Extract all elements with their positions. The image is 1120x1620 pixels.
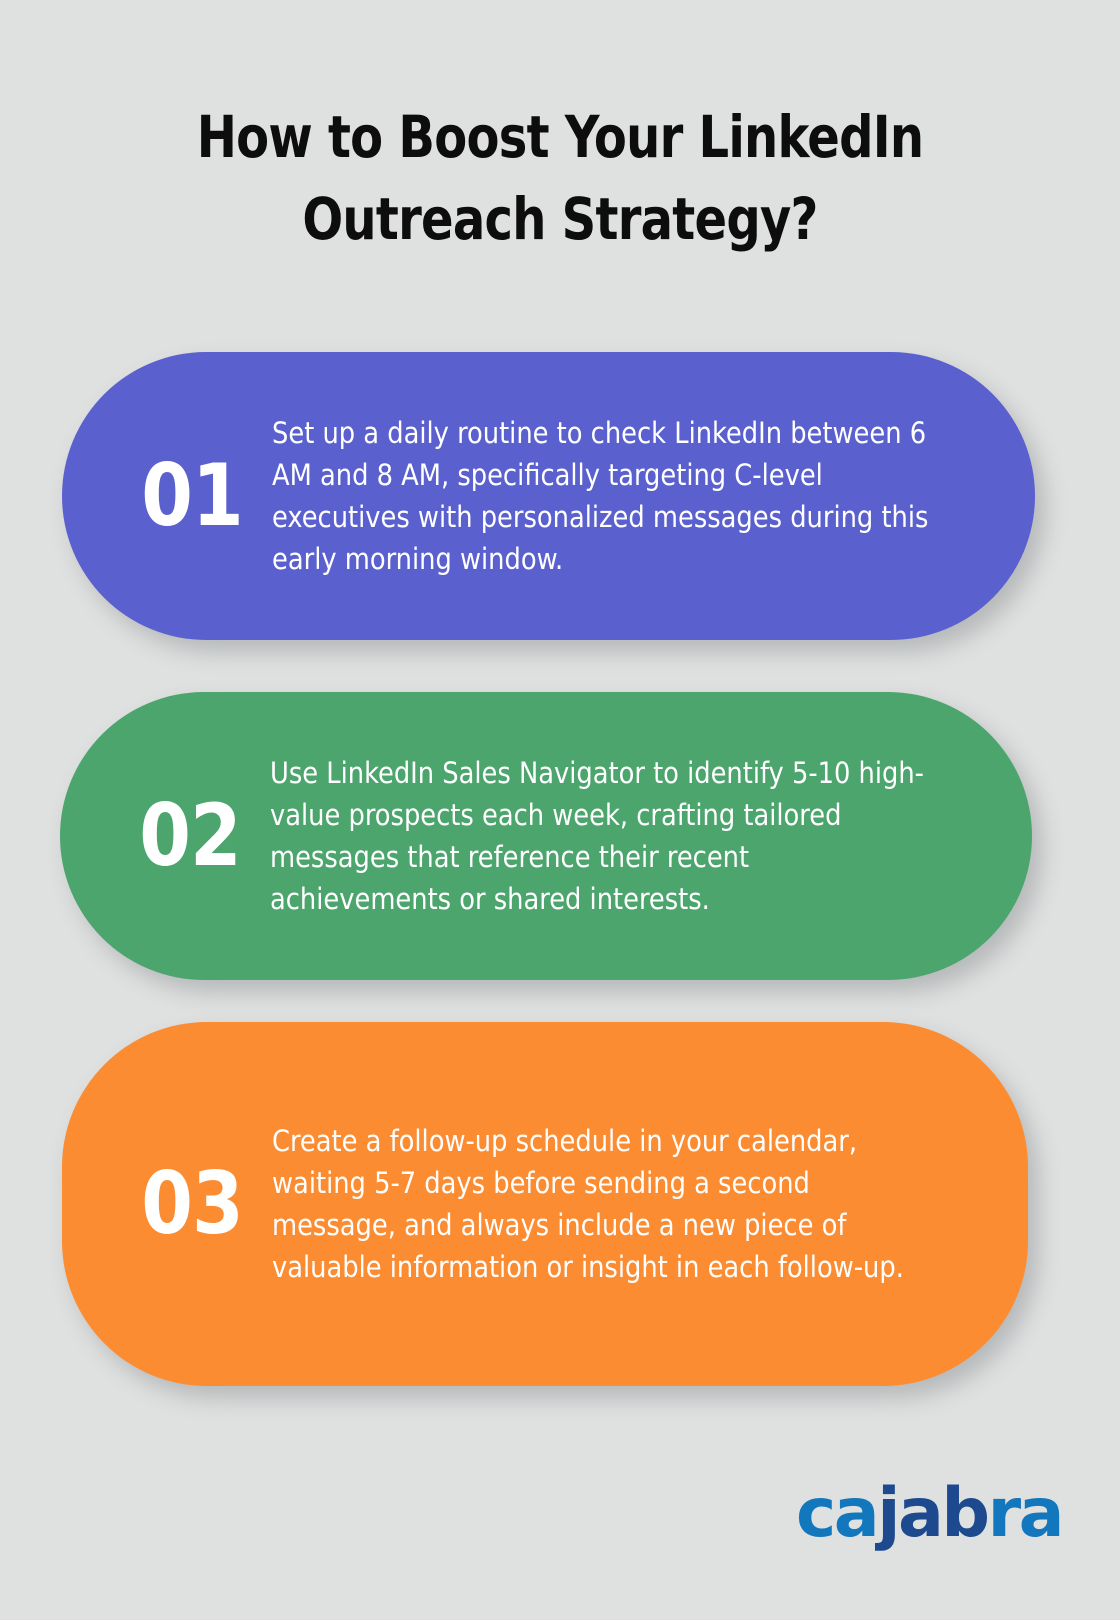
- step-text-02: Use LinkedIn Sales Navigator to identify…: [270, 752, 1009, 920]
- cajabra-logo: cajabra: [796, 1480, 1062, 1548]
- step-card-03: 03 Create a follow-up schedule in your c…: [62, 1022, 1028, 1386]
- steps-list: 01 Set up a daily routine to check Linke…: [0, 0, 1120, 1620]
- step-number-03: 03: [121, 1161, 263, 1247]
- logo-part-3: ra: [988, 1474, 1062, 1553]
- step-card-02: 02 Use LinkedIn Sales Navigator to ident…: [60, 692, 1032, 980]
- step-number-02: 02: [119, 793, 261, 879]
- logo-part-2: jab: [877, 1474, 987, 1553]
- step-text-01: Set up a daily routine to check LinkedIn…: [272, 412, 1012, 580]
- step-number-01: 01: [121, 453, 263, 539]
- step-card-01: 01 Set up a daily routine to check Linke…: [62, 352, 1035, 640]
- step-text-03: Create a follow-up schedule in your cale…: [272, 1120, 1005, 1288]
- logo-part-1: ca: [796, 1474, 877, 1553]
